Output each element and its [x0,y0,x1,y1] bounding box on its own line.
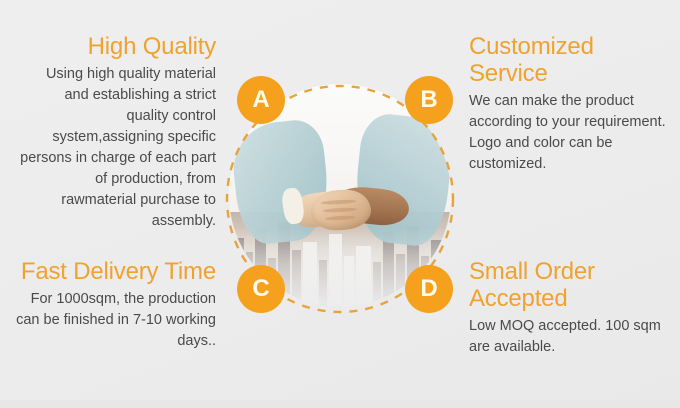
badge-c[interactable]: C [237,265,285,313]
badge-a[interactable]: A [237,76,285,124]
feature-a-heading: High Quality [20,33,216,60]
bottom-edge-band [0,400,680,408]
feature-d-heading: Small Order Accepted [469,258,669,312]
feature-b-body: We can make the product according to you… [469,91,669,175]
feature-a-body: Using high quality material and establis… [20,64,216,232]
infographic-canvas: A B C D High Quality Using high quality … [0,0,680,408]
feature-block-small-order-accepted: Small Order Accepted Low MOQ accepted. 1… [469,258,669,358]
feature-c-heading: Fast Delivery Time [8,258,216,285]
badge-d[interactable]: D [405,265,453,313]
feature-d-body: Low MOQ accepted. 100 sqm are available. [469,316,669,358]
feature-block-customized-service: Customized Service We can make the produ… [469,33,669,175]
feature-block-fast-delivery-time: Fast Delivery Time For 1000sqm, the prod… [8,258,216,352]
feature-b-heading: Customized Service [469,33,669,87]
badge-b[interactable]: B [405,76,453,124]
feature-block-high-quality: High Quality Using high quality material… [20,33,216,232]
feature-c-body: For 1000sqm, the production can be finis… [8,289,216,352]
